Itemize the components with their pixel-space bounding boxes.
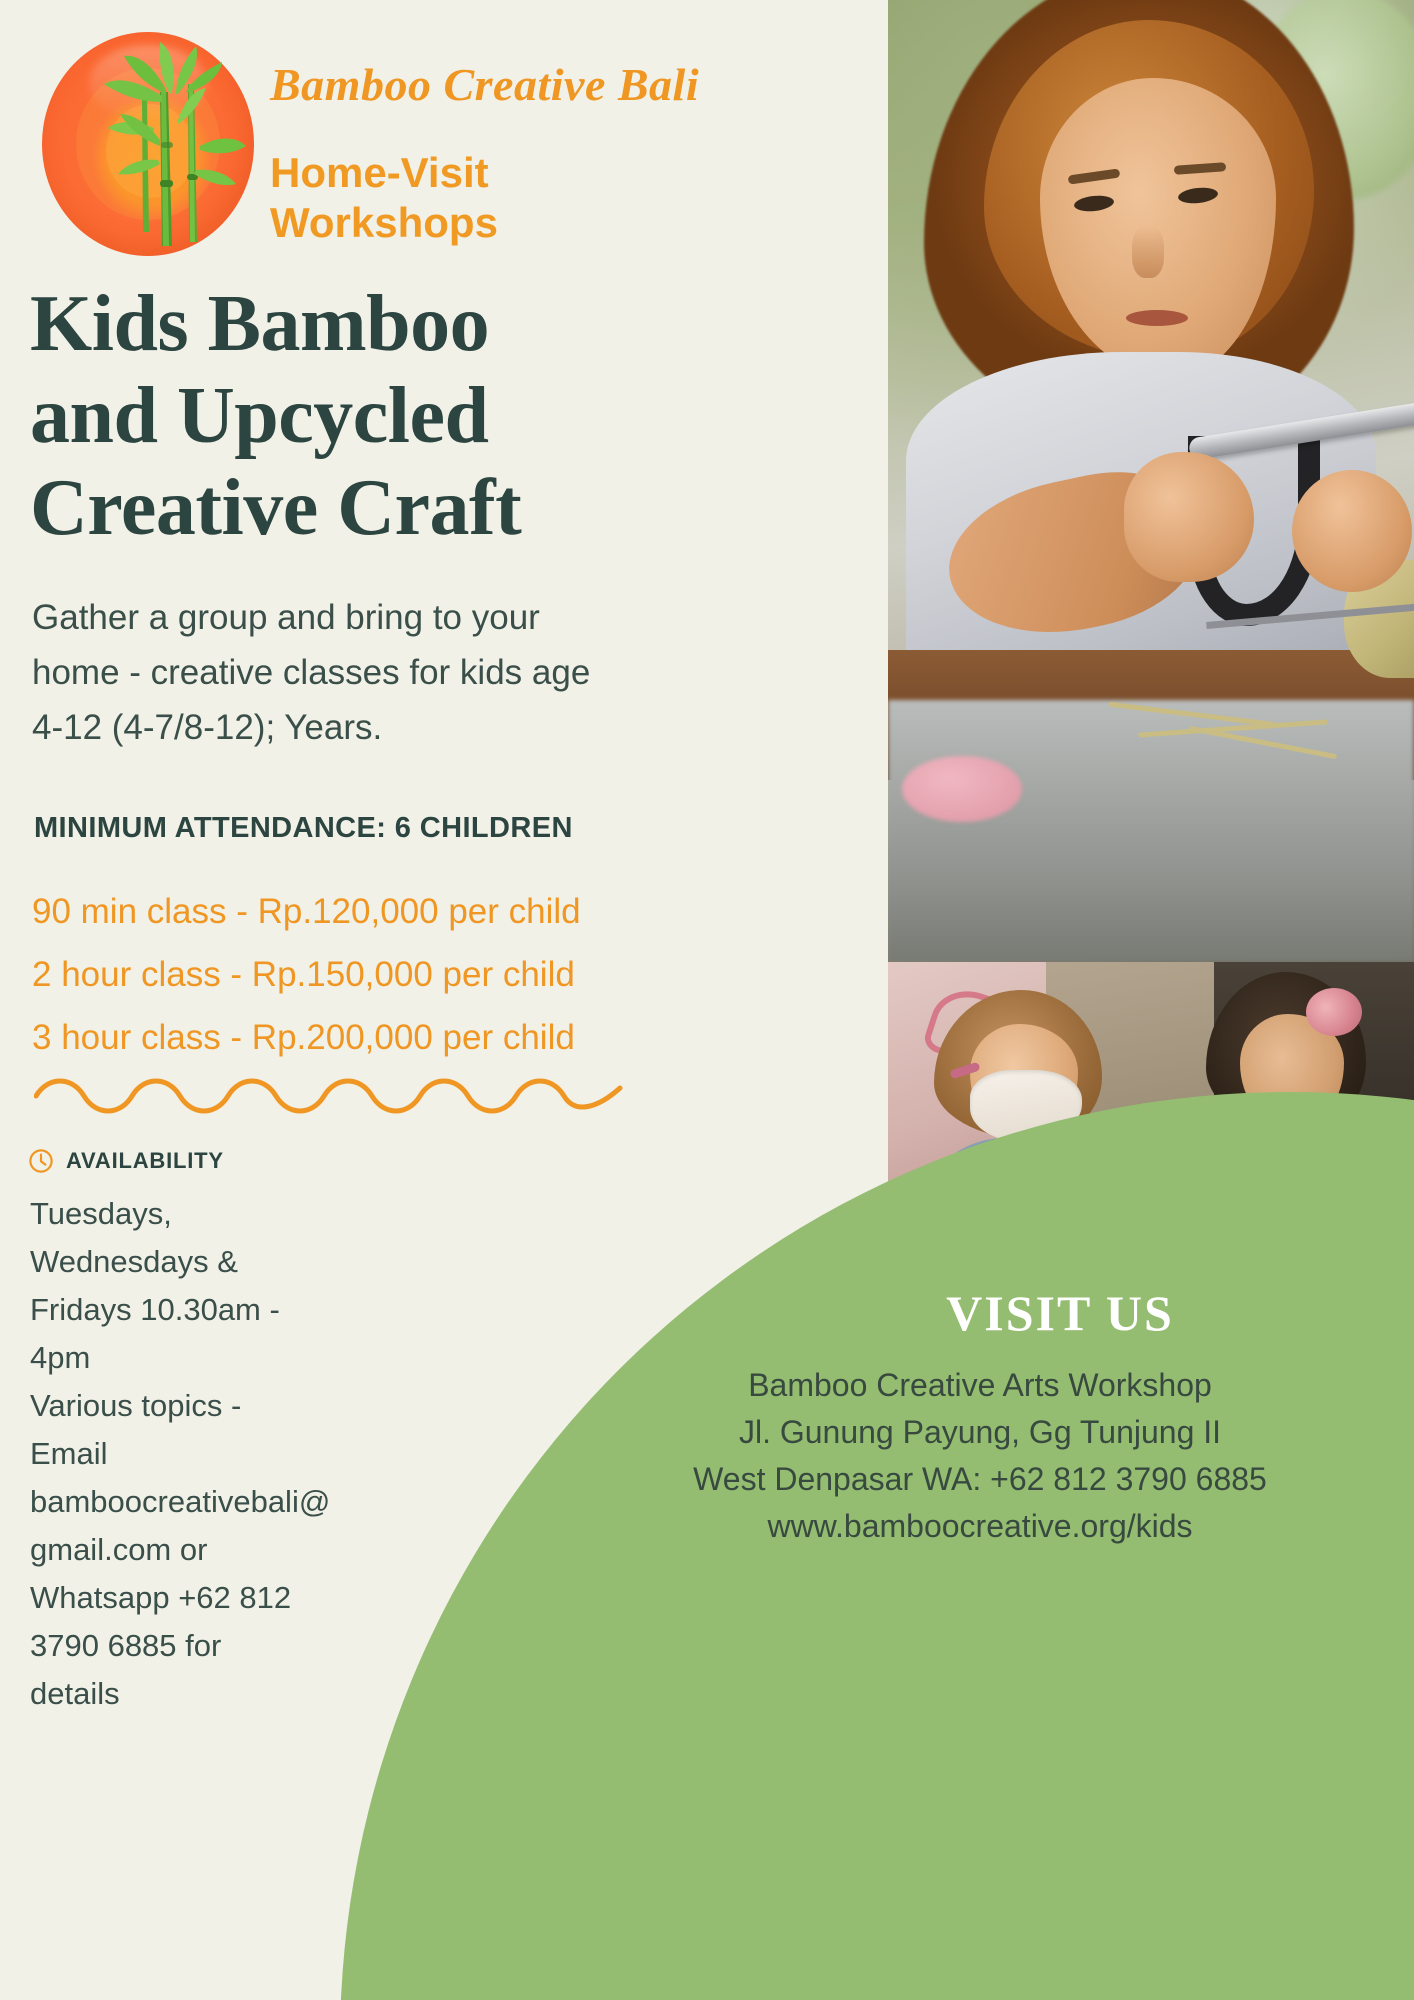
description-text: Gather a group and bring to your home - … — [32, 590, 682, 755]
price-item: 3 hour class - Rp.200,000 per child — [32, 1006, 581, 1069]
bamboo-in-orange-circle-logo — [42, 32, 254, 256]
visit-us-details: Bamboo Creative Arts Workshop Jl. Gunung… — [560, 1362, 1400, 1550]
availability-header: AVAILABILITY — [28, 1148, 224, 1174]
page-title: Kids Bamboo and Upcycled Creative Craft — [30, 278, 730, 554]
sub-brand-title: Home-Visit Workshops — [270, 148, 498, 248]
brand-title: Bamboo Creative Bali — [270, 58, 699, 111]
availability-text: Tuesdays, Wednesdays & Fridays 10.30am -… — [30, 1190, 300, 1718]
price-item: 90 min class - Rp.120,000 per child — [32, 880, 581, 943]
price-list: 90 min class - Rp.120,000 per child 2 ho… — [32, 880, 581, 1069]
bamboo-icon — [42, 32, 254, 256]
minimum-attendance-note: MINIMUM ATTENDANCE: 6 CHILDREN — [34, 812, 573, 845]
poster-canvas: Bamboo Creative Bali Home-Visit Workshop… — [0, 0, 1414, 2000]
availability-label: AVAILABILITY — [66, 1148, 224, 1174]
girl-sawing-bamboo-photo — [888, 0, 1414, 962]
clock-icon — [28, 1148, 54, 1174]
price-item: 2 hour class - Rp.150,000 per child — [32, 943, 581, 1006]
visit-us-heading: VISIT US — [740, 1284, 1380, 1342]
orange-wave-divider — [34, 1072, 624, 1123]
